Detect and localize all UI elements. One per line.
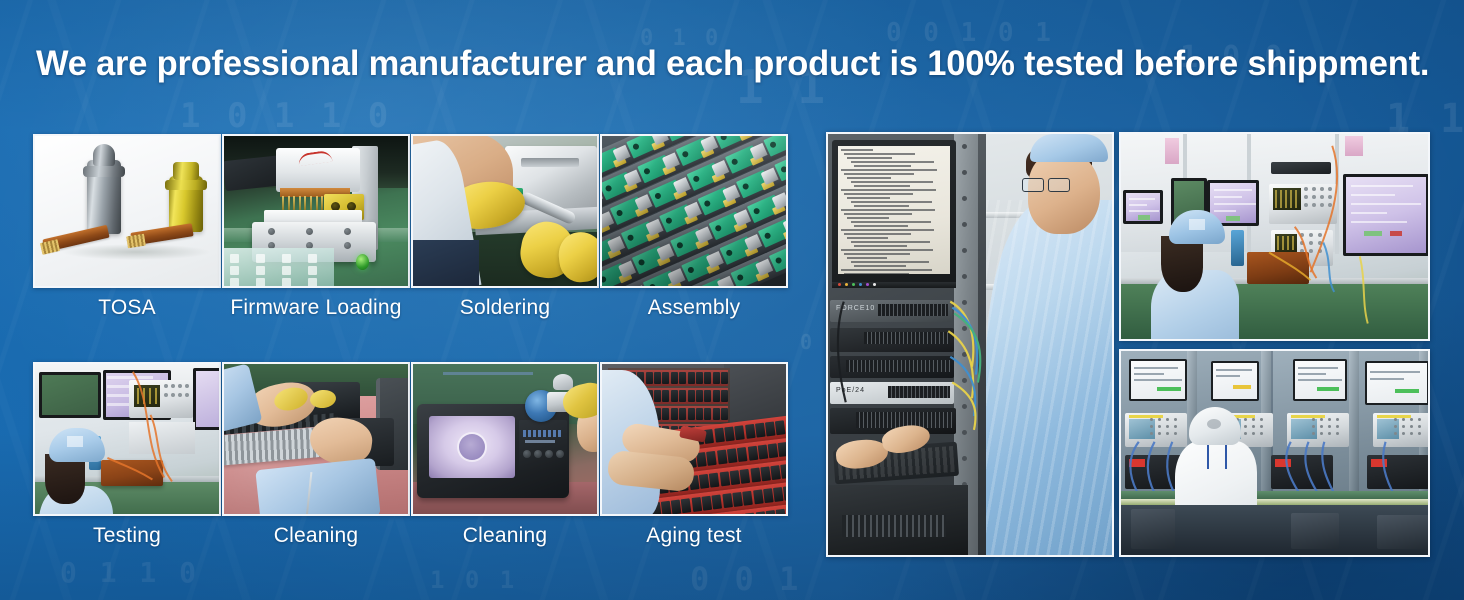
process-row-1: TOSA bbox=[33, 134, 790, 326]
process-step-cleaning-1[interactable]: Cleaning bbox=[222, 362, 410, 516]
gloved-hands-icon bbox=[224, 364, 408, 514]
test-lab-scene bbox=[1121, 134, 1428, 339]
process-step-label: Cleaning bbox=[411, 524, 599, 548]
process-step-aging-test[interactable]: Aging test bbox=[600, 362, 788, 516]
photo-burn-in-test-racks[interactable] bbox=[1119, 349, 1430, 557]
process-step-assembly[interactable]: Assembly bbox=[600, 134, 788, 288]
photo-frame bbox=[411, 134, 599, 288]
process-step-testing[interactable]: Testing bbox=[33, 362, 221, 516]
photo-frame bbox=[600, 362, 788, 516]
photo-frame bbox=[222, 134, 410, 288]
page-title: We are professional manufacturer and eac… bbox=[36, 44, 1415, 84]
process-step-soldering[interactable]: Soldering bbox=[411, 134, 599, 288]
fiber-scope-icon bbox=[413, 364, 597, 514]
process-steps-grid: TOSA bbox=[33, 134, 790, 554]
oscilloscope-icon bbox=[35, 364, 219, 514]
photo-frame bbox=[600, 134, 788, 288]
binary-digit-group: 1 0 1 1 0 bbox=[180, 96, 391, 136]
binary-digit-group: 0 1 1 0 bbox=[60, 556, 199, 589]
photo-test-lab-wide[interactable] bbox=[1119, 132, 1430, 341]
manufacturing-banner: 1 0 1 1 0 0 1 0 1 1 0 0 1 0 1 1 0 0 0 1 … bbox=[0, 0, 1464, 600]
pcb-tray-icon bbox=[602, 136, 786, 286]
test-racks-scene bbox=[1121, 351, 1428, 555]
binary-digit-group: 0 0 1 bbox=[690, 560, 801, 598]
burn-in-rack-icon bbox=[602, 364, 786, 514]
optical-module-icon bbox=[35, 136, 219, 286]
process-row-2: Testing bbox=[33, 362, 790, 554]
engineer-figure bbox=[964, 134, 1112, 555]
facility-photos: FORCE10 PoE/24 bbox=[826, 132, 1430, 557]
jig-fixture-icon bbox=[224, 136, 408, 286]
soldering-iron-icon bbox=[413, 136, 597, 286]
photo-frame bbox=[411, 362, 599, 516]
photo-frame bbox=[33, 134, 221, 288]
server-rack-scene: FORCE10 PoE/24 bbox=[828, 134, 1112, 555]
process-step-label: Soldering bbox=[411, 296, 599, 320]
photo-frame bbox=[33, 362, 221, 516]
photo-frame bbox=[222, 362, 410, 516]
technician-figure bbox=[1155, 210, 1241, 339]
process-step-firmware-loading[interactable]: Firmware Loading bbox=[222, 134, 410, 288]
process-step-label: Firmware Loading bbox=[222, 296, 410, 320]
process-step-label: TOSA bbox=[33, 296, 221, 320]
process-step-label: Cleaning bbox=[222, 524, 410, 548]
binary-digit-group: 1 0 1 bbox=[430, 566, 517, 594]
process-step-label: Assembly bbox=[600, 296, 788, 320]
process-step-label: Testing bbox=[33, 524, 221, 548]
process-step-label: Aging test bbox=[600, 524, 788, 548]
process-step-tosa[interactable]: TOSA bbox=[33, 134, 221, 288]
process-step-cleaning-2[interactable]: Cleaning bbox=[411, 362, 599, 516]
photo-engineer-at-server-rack[interactable]: FORCE10 PoE/24 bbox=[826, 132, 1114, 557]
